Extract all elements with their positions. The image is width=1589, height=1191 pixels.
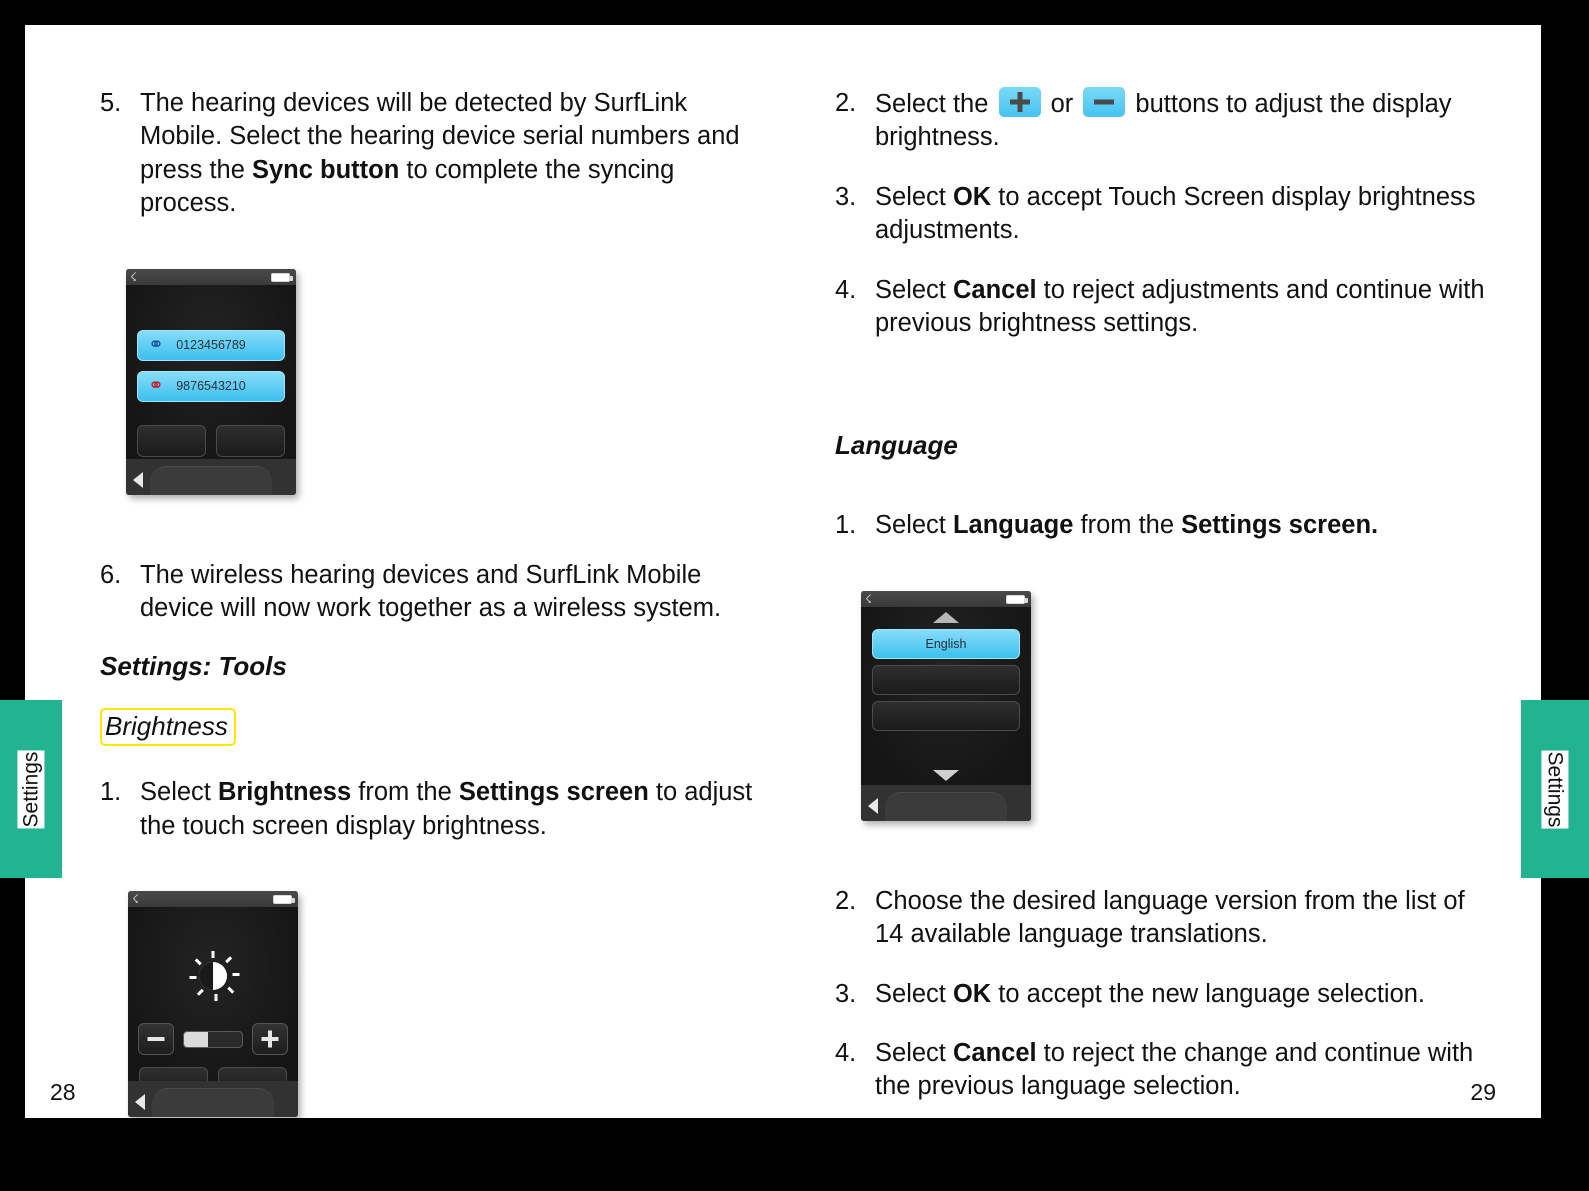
list-item: 2. Choose the desired language version f… <box>835 885 1495 952</box>
sidebar-tab-settings-right[interactable]: Settings <box>1521 700 1589 878</box>
bluetooth-icon: ☇ <box>130 271 137 283</box>
brightness-device-screen: ☇ <box>128 891 298 1117</box>
list-text: Select Brightness from the Settings scre… <box>140 776 760 843</box>
language-option-selected[interactable]: English <box>872 629 1020 659</box>
list-text: Select Cancel to reject adjustments and … <box>875 274 1495 341</box>
language-option-label: English <box>926 637 967 651</box>
list-item: 4. Select Cancel to reject adjustments a… <box>835 274 1495 341</box>
list-number: 4. <box>835 274 875 341</box>
body-text: Select the <box>875 90 996 118</box>
body-text: from the <box>351 778 459 806</box>
device-status-bar: ☇ <box>126 269 296 285</box>
body-text: The wireless hearing devices and SurfLin… <box>140 561 721 622</box>
chevron-down-icon[interactable] <box>933 770 959 781</box>
body-text: to accept the new language selection. <box>991 980 1425 1008</box>
body-text: Select <box>875 183 953 211</box>
body-text: Select <box>875 980 953 1008</box>
cancel-button[interactable] <box>137 425 206 457</box>
device-footer <box>861 785 1031 821</box>
sidebar-tab-label: Settings <box>1542 750 1569 828</box>
language-option-empty-1[interactable] <box>872 665 1020 695</box>
subheading-wrapper: Brightness <box>100 708 760 746</box>
right-ear-icon: ⚭ <box>148 377 164 396</box>
back-arrow-icon[interactable] <box>135 1094 145 1110</box>
emphasis-text: Language <box>953 511 1073 539</box>
device-screen-area: ⚭ 0123456789 ⚭ 9876543210 <box>126 285 296 459</box>
subheading-language: Language <box>835 430 1495 461</box>
emphasis-text: Cancel <box>953 1039 1037 1067</box>
section-heading: Settings: Tools <box>100 651 760 682</box>
brightness-plus-button[interactable] <box>252 1023 288 1055</box>
language-option-empty-2[interactable] <box>872 701 1020 731</box>
device-footer <box>126 459 296 495</box>
list-text: Select OK to accept Touch Screen display… <box>875 181 1495 248</box>
body-text: from the <box>1073 511 1181 539</box>
plus-badge-icon <box>999 87 1041 117</box>
minus-badge-icon <box>1083 87 1125 117</box>
emphasis-text: OK <box>953 183 991 211</box>
body-text: or <box>1044 90 1081 118</box>
chevron-up-icon[interactable] <box>933 612 959 623</box>
document-spread: 5. The hearing devices will be detected … <box>25 25 1541 1118</box>
device-status-bar: ☇ <box>861 591 1031 607</box>
body-text: Select <box>875 511 953 539</box>
battery-icon <box>271 273 290 282</box>
emphasis-text: Settings screen <box>459 778 649 806</box>
serial-button-right[interactable]: ⚭ 9876543210 <box>137 371 285 402</box>
device-notch <box>152 1088 274 1117</box>
back-arrow-icon[interactable] <box>868 798 878 814</box>
list-text: Select the or buttons to adjust the disp… <box>875 87 1495 155</box>
emphasis-text: Settings screen. <box>1181 511 1378 539</box>
emphasis-text: OK <box>953 980 991 1008</box>
list-number: 1. <box>100 776 140 843</box>
page-number-left: 28 <box>50 1079 76 1106</box>
device-notch <box>150 466 272 495</box>
list-number: 2. <box>835 885 875 952</box>
sidebar-tab-settings-left[interactable]: Settings <box>0 700 62 878</box>
brightness-slider-fill <box>184 1032 208 1047</box>
emphasis-text: Brightness <box>218 778 351 806</box>
battery-icon <box>1006 595 1025 604</box>
body-text: Choose the desired language version from… <box>875 887 1465 948</box>
device-status-bar: ☇ <box>128 891 298 907</box>
bluetooth-icon: ☇ <box>132 893 139 905</box>
list-item: 5. The hearing devices will be detected … <box>100 87 760 221</box>
left-ear-icon: ⚭ <box>148 336 164 355</box>
list-item: 2. Select the or buttons to adjust the d… <box>835 87 1495 155</box>
emphasis-text: Sync button <box>252 156 399 184</box>
left-page-column: 5. The hearing devices will be detected … <box>100 87 760 1117</box>
list-item: 3. Select OK to accept the new language … <box>835 978 1495 1011</box>
device-screen-area: English <box>861 607 1031 785</box>
section-heading-rest: Tools <box>211 651 287 681</box>
list-number: 2. <box>835 87 875 155</box>
list-text: Select Language from the Settings screen… <box>875 509 1495 542</box>
sync-device-screen: ☇ ⚭ 0123456789 ⚭ 9876543210 <box>126 269 296 495</box>
serial-right-label: 9876543210 <box>176 379 246 393</box>
device-screen-area <box>128 907 298 1081</box>
list-number: 3. <box>835 181 875 248</box>
sync-button[interactable] <box>216 425 285 457</box>
subheading-brightness-highlighted: Brightness <box>100 708 236 746</box>
list-text: Choose the desired language version from… <box>875 885 1495 952</box>
serial-left-label: 0123456789 <box>176 338 246 352</box>
list-text: Select OK to accept the new language sel… <box>875 978 1495 1011</box>
list-text: The hearing devices will be detected by … <box>140 87 760 221</box>
sidebar-tab-label: Settings <box>18 750 45 828</box>
serial-button-left[interactable]: ⚭ 0123456789 <box>137 330 285 361</box>
back-arrow-icon[interactable] <box>133 472 143 488</box>
section-heading-lead: Settings: <box>100 651 211 681</box>
list-item: 4. Select Cancel to reject the change an… <box>835 1037 1495 1104</box>
body-text: Select <box>875 276 953 304</box>
list-text: The wireless hearing devices and SurfLin… <box>140 559 760 626</box>
battery-icon <box>273 895 292 904</box>
brightness-sun-icon <box>188 951 238 1001</box>
brightness-minus-button[interactable] <box>138 1023 174 1055</box>
list-number: 1. <box>835 509 875 542</box>
list-item: 3. Select OK to accept Touch Screen disp… <box>835 181 1495 248</box>
body-text: Select <box>875 1039 953 1067</box>
list-item: 1. Select Brightness from the Settings s… <box>100 776 760 843</box>
device-footer <box>128 1081 298 1117</box>
list-number: 6. <box>100 559 140 626</box>
list-number: 5. <box>100 87 140 221</box>
body-text: Select <box>140 778 218 806</box>
list-number: 4. <box>835 1037 875 1104</box>
list-number: 3. <box>835 978 875 1011</box>
emphasis-text: Cancel <box>953 276 1037 304</box>
list-item: 6. The wireless hearing devices and Surf… <box>100 559 760 626</box>
list-item: 1. Select Language from the Settings scr… <box>835 509 1495 542</box>
bluetooth-icon: ☇ <box>865 593 872 605</box>
page-number-right: 29 <box>1470 1079 1496 1106</box>
list-text: Select Cancel to reject the change and c… <box>875 1037 1495 1104</box>
brightness-slider[interactable] <box>183 1031 243 1048</box>
device-notch <box>885 792 1007 821</box>
right-page-column: 2. Select the or buttons to adjust the d… <box>835 87 1495 1130</box>
language-device-screen: ☇ English <box>861 591 1031 821</box>
